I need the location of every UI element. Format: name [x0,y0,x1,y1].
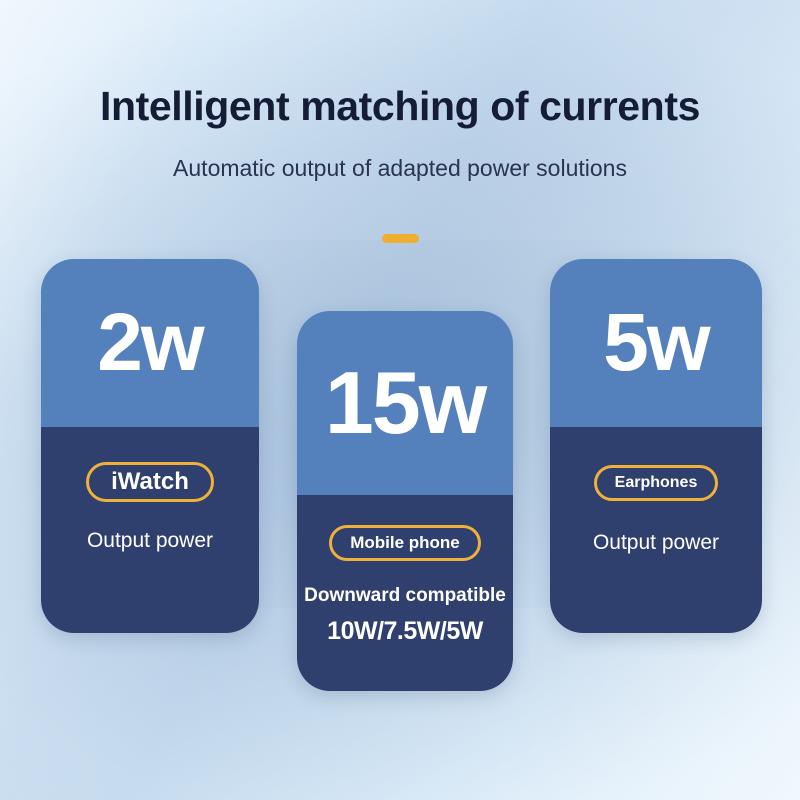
wattage-value: 2w [97,302,202,384]
card-wattage-panel: 15w [297,311,513,495]
wattage-value: 5w [603,302,708,384]
wattage-unit: w [141,297,203,388]
wattage-value: 15w [325,359,485,447]
wattage-number: 2 [97,297,141,388]
card-detail-panel: Mobile phone Downward compatible 10W/7.5… [297,495,513,691]
device-badge: Mobile phone [329,525,481,561]
accent-divider [382,234,419,243]
page-title: Intelligent matching of currents [0,84,800,129]
card-caption: Output power [593,531,719,555]
wattage-number: 15 [325,353,419,452]
card-wattage-panel: 5w [550,259,762,427]
wattage-number: 5 [603,297,647,388]
card-caption: Output power [87,529,213,553]
power-card-iwatch: 2w iWatch Output power [41,259,259,633]
page-subtitle: Automatic output of adapted power soluti… [0,155,800,183]
wattage-unit: w [647,297,709,388]
infographic-canvas: Intelligent matching of currents Automat… [0,0,800,800]
power-card-earphones: 5w Earphones Output power [550,259,762,633]
wattage-unit: w [419,353,485,452]
device-badge: iWatch [86,462,214,502]
compatible-wattage-list: 10W/7.5W/5W [327,617,483,646]
card-detail-panel: Earphones Output power [550,427,762,633]
card-detail-panel: iWatch Output power [41,427,259,633]
card-caption: Downward compatible [304,585,506,607]
card-wattage-panel: 2w [41,259,259,427]
device-badge: Earphones [594,465,719,501]
power-card-mobile-phone: 15w Mobile phone Downward compatible 10W… [297,311,513,691]
